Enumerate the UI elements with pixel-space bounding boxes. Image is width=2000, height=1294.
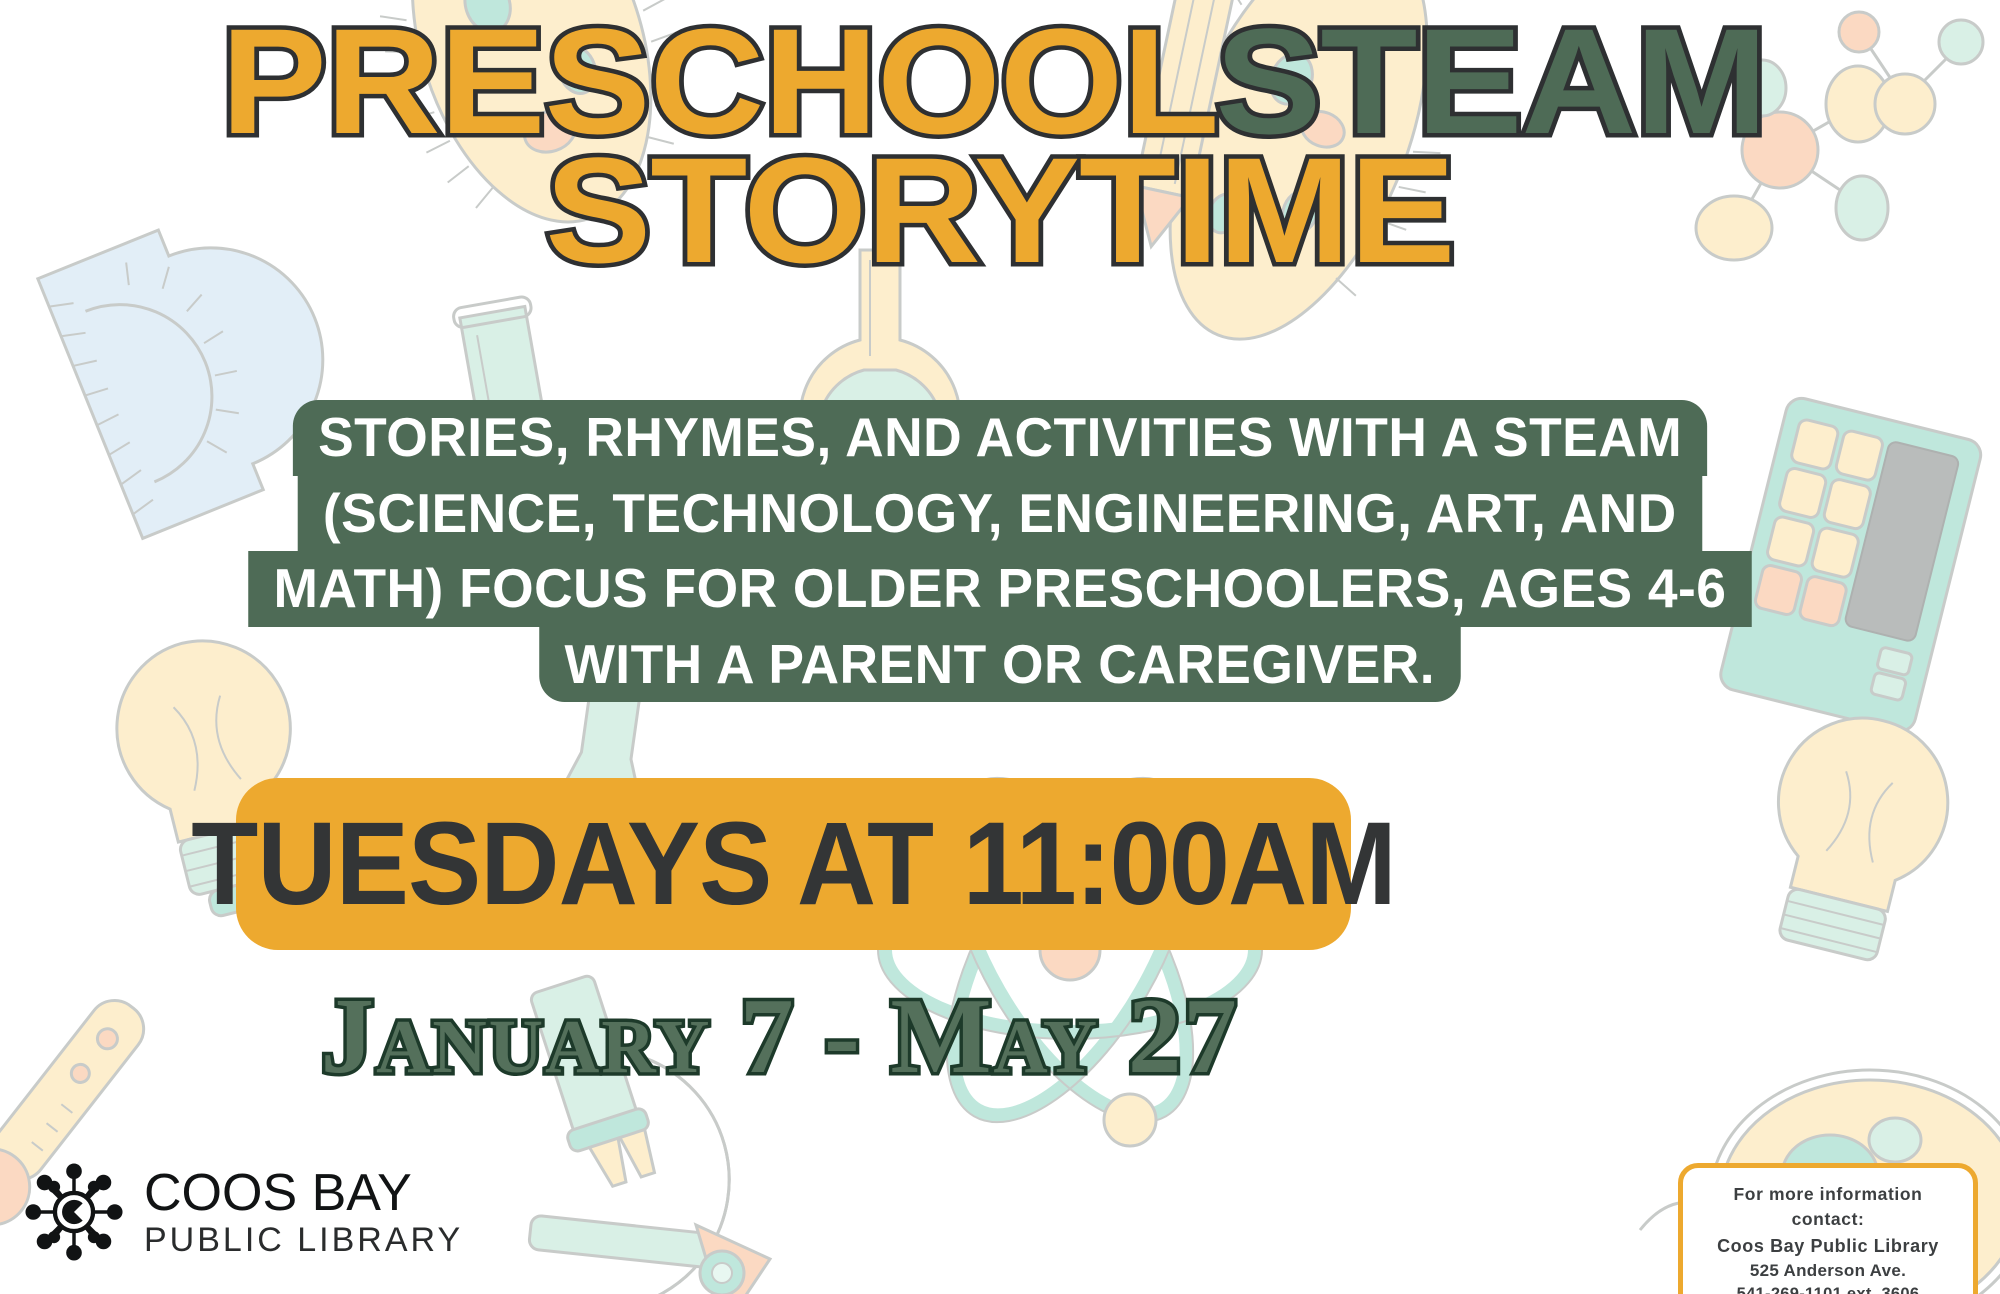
description-line-4: WITH A PARENT OR CAREGIVER. [539,627,1460,703]
time-banner-text: TUESDAYS AT 11:00AM [192,805,1396,923]
library-subtitle: PUBLIC LIBRARY [144,1223,463,1257]
contact-info-box: For more information contact: Coos Bay P… [1678,1163,1978,1294]
library-sunburst-icon [22,1160,126,1264]
library-logo-text: COOS BAY PUBLIC LIBRARY [144,1167,463,1257]
date-range-line: January 7 - May 27 [0,975,1560,1099]
description-rows: STORIES, RHYMES, AND ACTIVITIES WITH A S… [150,400,1850,702]
description-line-2: (SCIENCE, TECHNOLOGY, ENGINEERING, ART, … [298,476,1702,552]
contact-line-1: For more information contact: [1695,1182,1961,1233]
description-row: (SCIENCE, TECHNOLOGY, ENGINEERING, ART, … [150,476,1850,552]
poster-content: PRESCHOOL STEAM STORYTIME STORIES, RHYME… [0,0,2000,1294]
time-banner-day: TUESDAYS AT [192,798,963,930]
time-banner: TUESDAYS AT 11:00AM [236,778,1351,950]
contact-line-2: Coos Bay Public Library [1695,1233,1961,1259]
contact-line-3: 525 Anderson Ave. [1695,1259,1961,1284]
time-banner-hour: 11:00AM [963,798,1395,930]
description-row: MATH) FOCUS FOR OLDER PRESCHOOLERS, AGES… [150,551,1850,627]
description-block: STORIES, RHYMES, AND ACTIVITIES WITH A S… [150,400,1850,702]
date-range-text: January 7 - May 27 [321,975,1239,1099]
library-logo: COOS BAY PUBLIC LIBRARY [22,1160,463,1264]
description-line-1: STORIES, RHYMES, AND ACTIVITIES WITH A S… [293,400,1708,476]
contact-line-4: 541-269-1101 ext. 3606 [1695,1283,1961,1294]
description-line-3: MATH) FOCUS FOR OLDER PRESCHOOLERS, AGES… [248,551,1751,627]
poster-canvas: .mint{fill:#d9f0e6;stroke:#c8cbc9;stroke… [0,0,2000,1294]
poster-title: PRESCHOOL STEAM STORYTIME [0,10,2000,281]
title-storytime: STORYTIME [545,139,1454,282]
library-name: COOS BAY [144,1167,463,1219]
description-row: WITH A PARENT OR CAREGIVER. [150,627,1850,703]
description-row: STORIES, RHYMES, AND ACTIVITIES WITH A S… [150,400,1850,476]
